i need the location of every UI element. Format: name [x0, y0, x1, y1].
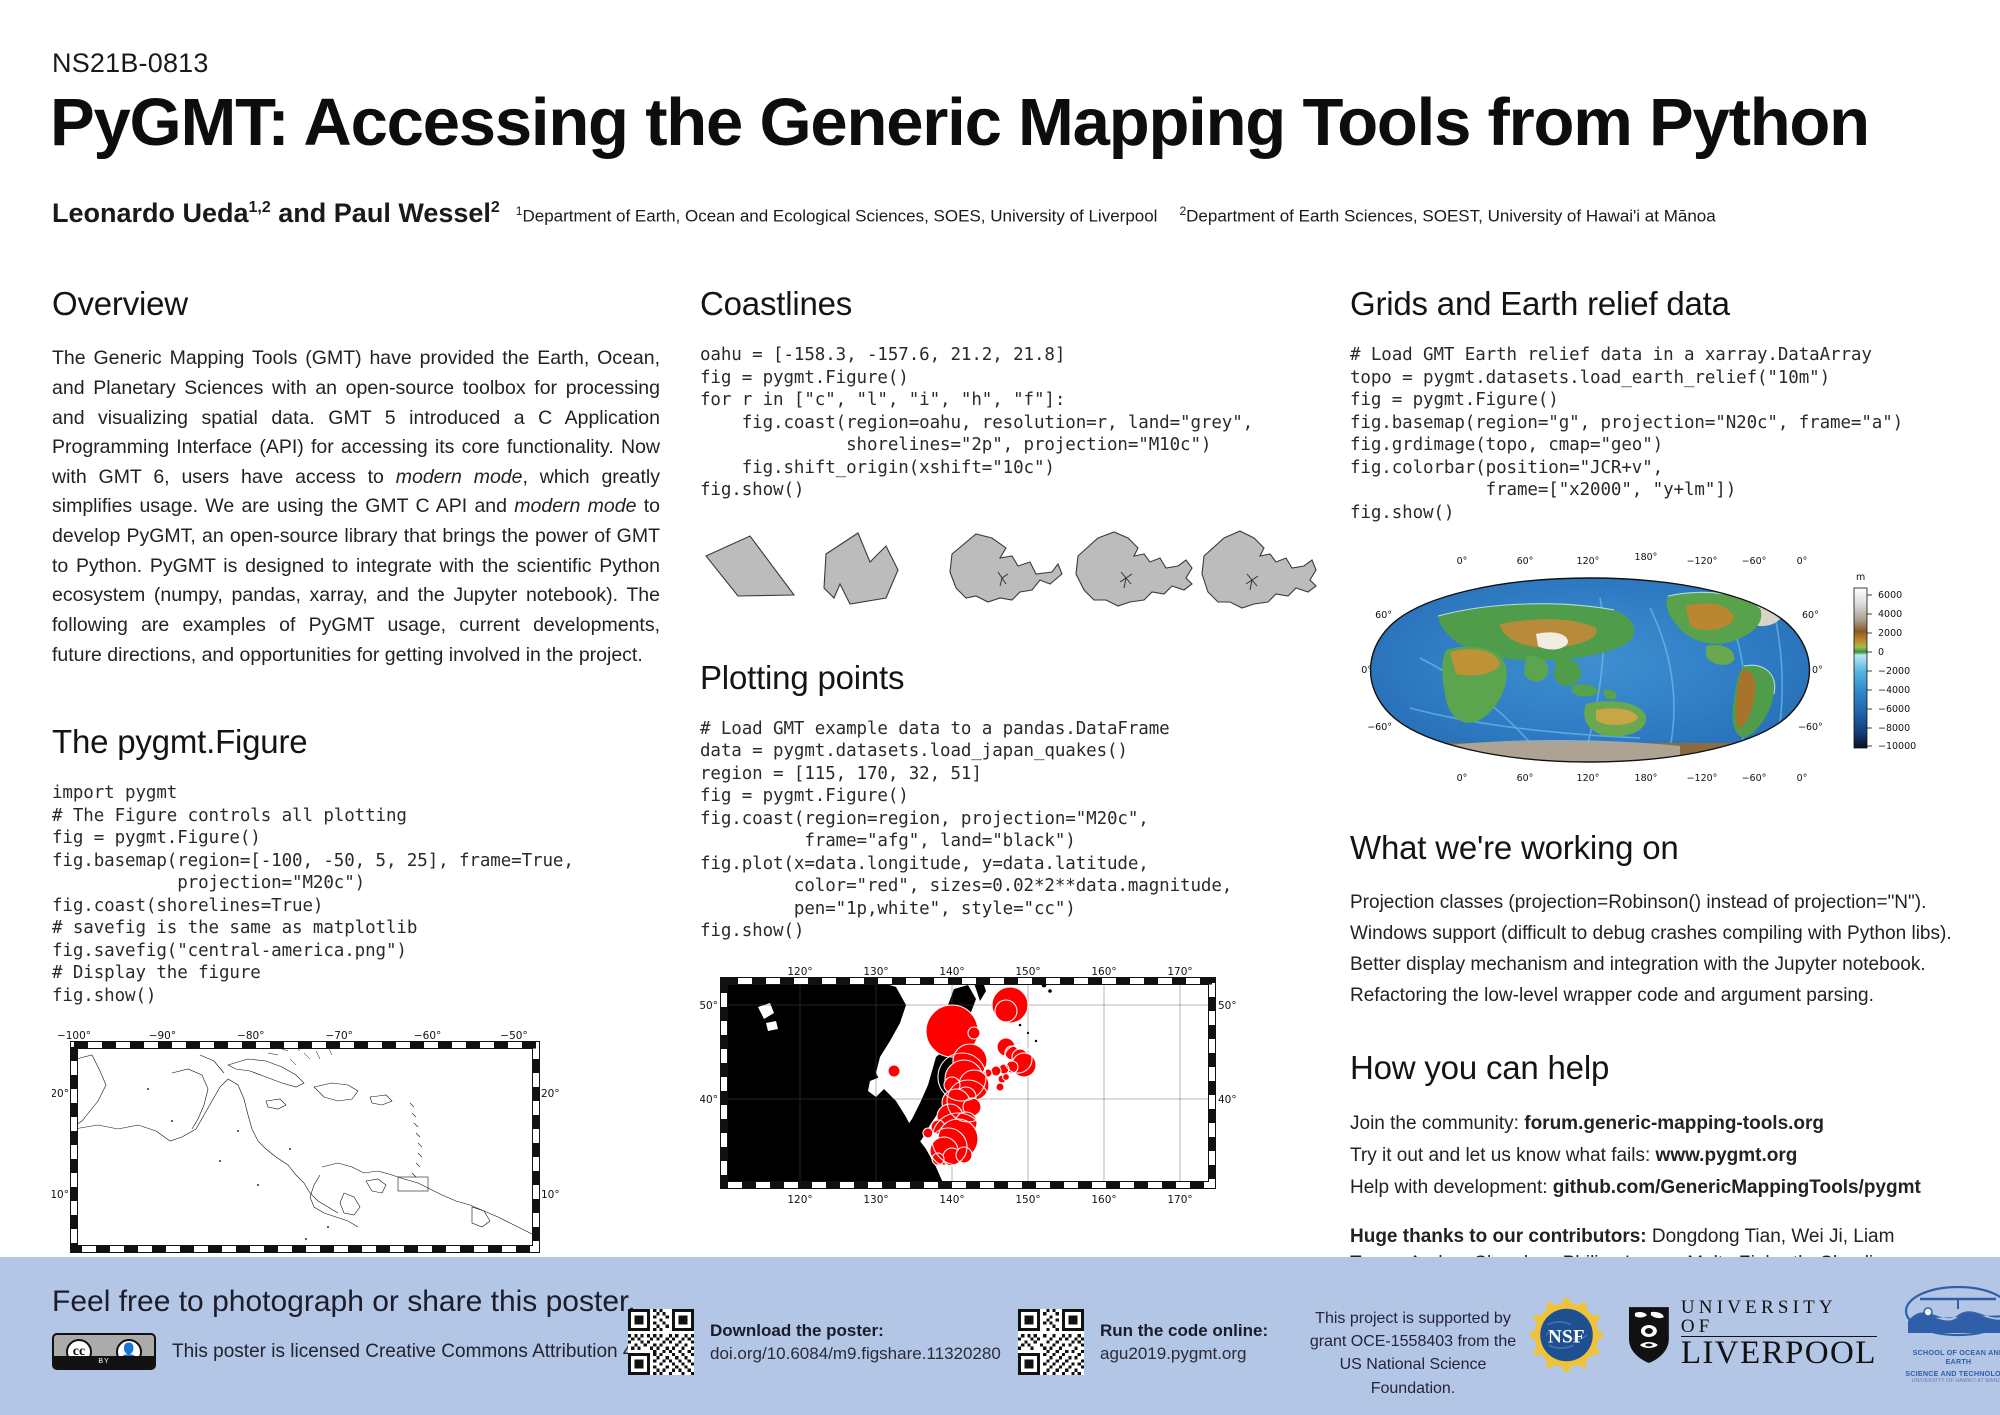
svg-text:60°: 60° — [1375, 610, 1392, 621]
working-on-list: Projection classes (projection=Robinson(… — [1350, 888, 1950, 1011]
svg-text:160°: 160° — [1091, 1194, 1116, 1206]
figure-central-america-map: −100°−90° −80°−70° −60°−50° −100°−90° −8… — [52, 1025, 660, 1278]
soest-caption-line-1: SCHOOL OF OCEAN AND EARTH — [1901, 1348, 2000, 1367]
svg-text:−120°: −120° — [1687, 773, 1718, 784]
svg-text:130°: 130° — [863, 966, 888, 978]
svg-text:−50°: −50° — [500, 1030, 527, 1042]
svg-text:60°: 60° — [1802, 610, 1819, 621]
author-conjunction: and — [271, 198, 334, 228]
svg-text:150°: 150° — [1015, 1194, 1040, 1206]
overview-em-2: modern mode — [514, 495, 636, 517]
qr-code-download-icon[interactable] — [628, 1309, 694, 1375]
svg-text:−8000: −8000 — [1878, 723, 1910, 734]
author-2-affil-marks: 2 — [491, 199, 500, 216]
svg-text:170°: 170° — [1167, 966, 1192, 978]
section-heading-help: How you can help — [1350, 1050, 1950, 1086]
creative-commons-icon: cc 👤 BY — [52, 1333, 156, 1370]
svg-text:−100°: −100° — [57, 1030, 91, 1042]
plotting-points-block: Plotting points # Load GMT example data … — [700, 660, 1320, 943]
qr-run-url: agu2019.pygmt.org — [1100, 1344, 1268, 1364]
qr-group-download: Download the poster: doi.org/10.6084/m9.… — [628, 1309, 1001, 1375]
overview-text-3: to develop PyGMT, an open-source library… — [52, 495, 660, 665]
svg-text:130°: 130° — [863, 1194, 888, 1206]
affil-2-text: Department of Earth Sciences, SOEST, Uni… — [1186, 207, 1716, 226]
section-heading-pygmt-figure: The pygmt.Figure — [52, 724, 660, 760]
liverpool-line-2: LIVERPOOL — [1681, 1336, 1877, 1370]
page-title: PyGMT: Accessing the Generic Mapping Too… — [50, 88, 1950, 158]
cc-by-label: BY — [54, 1356, 154, 1368]
camap-xticks-top: −100°−90° −80°−70° −60°−50° — [57, 1030, 528, 1042]
working-on-block: What we're working on Projection classes… — [1350, 830, 1950, 1011]
help-item-community: Join the community: forum.generic-mappin… — [1350, 1108, 1950, 1140]
figure-earth-relief: 0°60° 120°180° −120°−60° 0° 0°60° 120°18… — [1350, 538, 1950, 788]
svg-text:10°: 10° — [52, 1189, 69, 1201]
jpmap-plot-area — [721, 977, 1216, 1188]
colorbar: m 6000 4000 2000 0 −2000 −4000 −6000 −80… — [1854, 572, 1916, 752]
svg-text:−6000: −6000 — [1878, 704, 1910, 715]
qr-run-labels: Run the code online: agu2019.pygmt.org — [1100, 1321, 1268, 1364]
jpmap-xticks-bottom: 120°130° 140°150° 160°170° — [787, 1194, 1192, 1206]
svg-text:120°: 120° — [1577, 773, 1600, 784]
working-on-item: Refactoring the low-level wrapper code a… — [1350, 981, 1950, 1012]
svg-text:0°: 0° — [1797, 773, 1808, 784]
camap-plot-area — [71, 1042, 540, 1253]
license-text: This poster is licensed Creative Commons… — [172, 1341, 655, 1363]
code-block-plotting-points: # Load GMT example data to a pandas.Data… — [700, 718, 1320, 943]
colorbar-gradient — [1854, 588, 1867, 748]
nsf-logo-icon: NSF — [1530, 1297, 1603, 1373]
oahu-shape-l — [824, 533, 898, 604]
japan-map-svg: 120°130° 140°150° 160°170° 120°130° 140°… — [700, 961, 1280, 1209]
svg-text:140°: 140° — [939, 1194, 964, 1206]
license-row: cc 👤 BY This poster is licensed Creative… — [52, 1333, 655, 1370]
svg-text:120°: 120° — [787, 966, 812, 978]
jpmap-xticks-top: 120°130° 140°150° 160°170° — [787, 966, 1192, 978]
section-heading-grids: Grids and Earth relief data — [1350, 286, 1950, 322]
svg-text:150°: 150° — [1015, 966, 1040, 978]
oahu-shape-f — [1202, 531, 1316, 608]
svg-text:−4000: −4000 — [1878, 685, 1910, 696]
svg-text:−2000: −2000 — [1878, 666, 1910, 677]
poster-root: NS21B-0813 PyGMT: Accessing the Generic … — [0, 0, 2000, 1415]
svg-text:120°: 120° — [1577, 556, 1600, 567]
svg-text:50°: 50° — [1218, 1000, 1237, 1012]
author-1-affil-marks: 1,2 — [249, 199, 271, 216]
author-2: Paul Wessel — [334, 198, 491, 228]
central-america-map-svg: −100°−90° −80°−70° −60°−50° −100°−90° −8… — [52, 1025, 660, 1273]
column-middle: Coastlines oahu = [-158.3, -157.6, 21.2,… — [700, 286, 1320, 1214]
svg-text:50°: 50° — [700, 1000, 718, 1012]
column-left: Overview The Generic Mapping Tools (GMT)… — [52, 286, 660, 1278]
oahu-shape-h — [1076, 532, 1192, 606]
author-names: Leonardo Ueda1,2 and Paul Wessel2 — [52, 198, 500, 229]
liverpool-logo: UNIVERSITY OF LIVERPOOL — [1627, 1299, 1877, 1369]
overview-em-1: modern mode — [396, 466, 523, 488]
svg-text:60°: 60° — [1517, 556, 1534, 567]
svg-text:−90°: −90° — [149, 1030, 176, 1042]
oahu-shape-c — [706, 536, 794, 596]
svg-text:−60°: −60° — [1742, 556, 1767, 567]
affiliations: 1Department of Earth, Ocean and Ecologic… — [516, 204, 1716, 227]
help-item-try: Try it out and let us know what fails: w… — [1350, 1140, 1950, 1172]
oahu-series-svg — [700, 528, 1320, 612]
svg-text:−10000: −10000 — [1878, 741, 1916, 752]
globe-xticks-bottom: 0°60° 120°180° −120°−60° 0° — [1457, 773, 1808, 784]
footer-bar: Feel free to photograph or share this po… — [0, 1257, 2000, 1415]
svg-text:180°: 180° — [1635, 773, 1658, 784]
pygmt-figure-block: The pygmt.Figure import pygmt # The Figu… — [52, 724, 660, 1007]
svg-text:−120°: −120° — [1687, 556, 1718, 567]
figure-oahu-resolutions — [700, 528, 1320, 612]
column-right: Grids and Earth relief data # Load GMT E… — [1350, 286, 1950, 1306]
colorbar-unit-label: m — [1856, 572, 1865, 583]
soest-caption-line-2: SCIENCE AND TECHNOLOGY — [1901, 1369, 2000, 1378]
qr-download-url: doi.org/10.6084/m9.figshare.11320280 — [710, 1344, 1001, 1364]
footer-share-heading: Feel free to photograph or share this po… — [52, 1285, 636, 1319]
svg-text:120°: 120° — [787, 1194, 812, 1206]
author-1: Leonardo Ueda — [52, 198, 249, 228]
qr-run-title: Run the code online: — [1100, 1321, 1268, 1341]
section-heading-plotting-points: Plotting points — [700, 660, 1320, 696]
svg-text:140°: 140° — [939, 966, 964, 978]
section-heading-working-on: What we're working on — [1350, 830, 1950, 866]
svg-text:170°: 170° — [1167, 1194, 1192, 1206]
section-heading-coastlines: Coastlines — [700, 286, 1320, 322]
working-on-item: Projection classes (projection=Robinson(… — [1350, 888, 1950, 919]
svg-text:−70°: −70° — [325, 1030, 352, 1042]
svg-text:40°: 40° — [700, 1094, 718, 1106]
help-label: Try it out and let us know what fails: — [1350, 1145, 1656, 1166]
help-item-develop: Help with development: github.com/Generi… — [1350, 1172, 1950, 1204]
svg-text:0°: 0° — [1457, 773, 1468, 784]
svg-text:20°: 20° — [52, 1088, 69, 1100]
qr-group-run-online: Run the code online: agu2019.pygmt.org — [1018, 1309, 1268, 1375]
liverpool-shield-icon — [1627, 1305, 1671, 1365]
section-heading-overview: Overview — [52, 286, 660, 322]
svg-text:0°: 0° — [1457, 556, 1468, 567]
svg-text:2000: 2000 — [1878, 628, 1902, 639]
svg-text:10°: 10° — [541, 1189, 560, 1201]
liverpool-line-1: UNIVERSITY OF — [1681, 1299, 1877, 1335]
help-link-github[interactable]: github.com/GenericMappingTools/pygmt — [1553, 1177, 1921, 1198]
colorbar-ticks: 6000 4000 2000 0 −2000 −4000 −6000 −8000… — [1867, 590, 1916, 752]
liverpool-wordmark: UNIVERSITY OF LIVERPOOL — [1681, 1299, 1877, 1369]
abstract-id: NS21B-0813 — [52, 48, 209, 79]
svg-text:−60°: −60° — [1367, 722, 1392, 733]
grant-acknowledgement: This project is supported by grant OCE-1… — [1297, 1307, 1529, 1400]
qr-download-labels: Download the poster: doi.org/10.6084/m9.… — [710, 1321, 1001, 1364]
svg-text:160°: 160° — [1091, 966, 1116, 978]
oahu-shape-i — [950, 534, 1062, 602]
svg-text:0°: 0° — [1812, 665, 1823, 676]
figure-japan-quakes-map: 120°130° 140°150° 160°170° 120°130° 140°… — [700, 961, 1320, 1214]
qr-code-run-online-icon[interactable] — [1018, 1309, 1084, 1375]
soest-logo: SCHOOL OF OCEAN AND EARTH SCIENCE AND TE… — [1901, 1285, 2000, 1384]
overview-paragraph: The Generic Mapping Tools (GMT) have pro… — [52, 344, 660, 670]
svg-text:−60°: −60° — [1742, 773, 1767, 784]
authors-row: Leonardo Ueda1,2 and Paul Wessel2 1Depar… — [52, 198, 1932, 229]
svg-text:180°: 180° — [1635, 552, 1658, 563]
svg-text:6000: 6000 — [1878, 590, 1902, 601]
help-label: Join the community: — [1350, 1113, 1524, 1134]
svg-text:40°: 40° — [1218, 1094, 1237, 1106]
code-block-grids: # Load GMT Earth relief data in a xarray… — [1350, 344, 1950, 524]
help-link-pygmt[interactable]: www.pygmt.org — [1656, 1145, 1798, 1166]
code-block-coastlines: oahu = [-158.3, -157.6, 21.2, 21.8] fig … — [700, 344, 1320, 501]
svg-text:−80°: −80° — [237, 1030, 264, 1042]
svg-text:20°: 20° — [541, 1088, 560, 1100]
code-block-pygmt-figure: import pygmt # The Figure controls all p… — [52, 782, 660, 1007]
sponsor-logos: NSF — [1530, 1285, 2000, 1384]
svg-text:4000: 4000 — [1878, 609, 1902, 620]
help-link-forum[interactable]: forum.generic-mapping-tools.org — [1524, 1113, 1824, 1134]
svg-text:0°: 0° — [1797, 556, 1808, 567]
help-list: Join the community: forum.generic-mappin… — [1350, 1108, 1950, 1205]
svg-text:−60°: −60° — [414, 1030, 441, 1042]
earth-relief-svg: 0°60° 120°180° −120°−60° 0° 0°60° 120°18… — [1350, 538, 1950, 788]
svg-text:60°: 60° — [1517, 773, 1534, 784]
svg-text:0: 0 — [1878, 647, 1884, 658]
globe-body — [1350, 568, 1830, 778]
affil-1-text: Department of Earth, Ocean and Ecologica… — [522, 207, 1157, 226]
help-label: Help with development: — [1350, 1177, 1553, 1198]
globe-xticks-top: 0°60° 120°180° −120°−60° 0° — [1457, 552, 1808, 567]
svg-text:NSF: NSF — [1548, 1326, 1585, 1347]
qr-download-title: Download the poster: — [710, 1321, 1001, 1341]
working-on-item: Windows support (difficult to debug cras… — [1350, 919, 1950, 950]
contributors-label: Huge thanks to our contributors: — [1350, 1226, 1647, 1247]
svg-text:−60°: −60° — [1798, 722, 1823, 733]
soest-wave-icon — [1902, 1285, 2000, 1341]
working-on-item: Better display mechanism and integration… — [1350, 950, 1950, 981]
soest-caption-line-3: UNIVERSITY OF HAWAI'I AT MANOA — [1901, 1378, 2000, 1384]
